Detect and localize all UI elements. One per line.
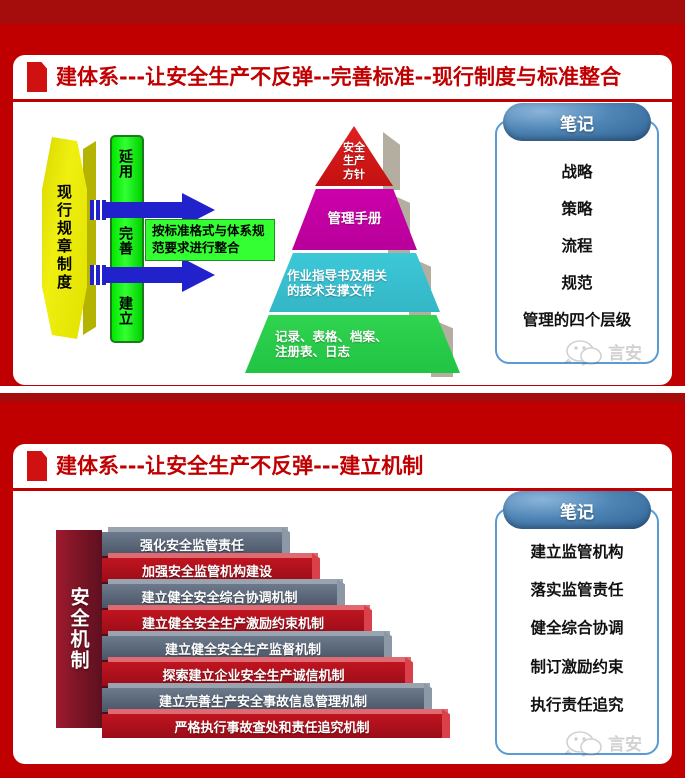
notes-item: 战略 (561, 160, 592, 182)
integration-callout: 按标准格式与体系规范要求进行整合 (145, 219, 275, 261)
notes-item: 策略 (561, 197, 592, 219)
pyramid-level-2-line-1: 管理手册 (328, 211, 382, 227)
notes-item: 执行责任追究 (530, 693, 623, 715)
arrow-shaft (106, 267, 184, 283)
pyramid-level-4: 记录、表格、档案、 注册表、日志 (245, 315, 460, 373)
pillar-label: 安全机制 (56, 530, 102, 728)
slide2-title: 建体系---让安全生产不反弹---建立机制 (56, 456, 423, 477)
notes-header-1: 笔记 (503, 103, 651, 141)
pyramid-level-4-text: 记录、表格、档案、 注册表、日志 (245, 315, 460, 373)
mid-red-band (0, 393, 685, 402)
poster-background: 建体系---让安全生产不反弹--完善标准--现行制度与标准整合 现行规章制度 延… (0, 0, 685, 778)
hexagon-label: 现行规章制度 (42, 137, 87, 339)
pyramid-level-3-text: 作业指导书及相关 的技术支撑文件 (269, 253, 440, 312)
notes-item: 规范 (561, 271, 592, 293)
staircase-pillar: 安全机制 (56, 530, 102, 728)
stair-step: 严格执行事故查处和责任追究机制 (102, 714, 442, 738)
step-side (337, 579, 345, 608)
stage-label-1: 延用 (110, 141, 140, 187)
pyramid-level-3: 作业指导书及相关 的技术支撑文件 (269, 253, 440, 312)
pyramid-level-2: 管理手册 (292, 189, 417, 250)
notes-list-1: 战略 策略 流程 规范 管理的四个层级 (497, 152, 657, 338)
arrow-head (182, 258, 215, 292)
notes-panel-2: 笔记 建立监管机构 落实监管责任 健全综合协调 制订激励约束 执行责任追究 (495, 508, 659, 755)
notes-list-2: 建立监管机构 落实监管责任 健全综合协调 制订激励约束 执行责任追究 (497, 532, 657, 723)
notes-item: 流程 (561, 234, 592, 256)
step-side (442, 709, 450, 738)
step-side (384, 631, 392, 660)
notes-item: 建立监管机构 (530, 540, 623, 562)
notes-item: 制订激励约束 (530, 655, 623, 677)
step-side (282, 527, 290, 556)
pyramid-level-1: 安全 生产 方针 (315, 126, 393, 186)
document-pyramid: 安全 生产 方针 管理手册 作业指导书及相关 的技术支撑文件 记录、表格、档 (288, 126, 478, 341)
step-side (364, 605, 372, 634)
step-side (312, 553, 320, 582)
slide1-title-underline (13, 99, 672, 102)
pyramid-level-3-line-2: 的技术支撑文件 (287, 283, 375, 298)
pyramid-level-1-line-1: 安全 (343, 141, 365, 154)
arrow-tail-bars (90, 200, 106, 220)
pyramid-level-1-text: 安全 生产 方针 (315, 126, 393, 186)
step-side (424, 683, 432, 712)
notes-item: 管理的四个层级 (523, 308, 632, 330)
arrow-tail-bars (90, 265, 106, 285)
safety-mechanism-staircase: 安全机制 强化安全监管责任 加强安全监管机构建设 建立健全安全综合协调机制 建立… (42, 530, 462, 735)
document-icon (27, 451, 47, 481)
document-icon (27, 62, 47, 92)
step-side (405, 657, 413, 686)
notes-panel-1: 笔记 战略 策略 流程 规范 管理的四个层级 (495, 120, 659, 364)
slide1-title-row: 建体系---让安全生产不反弹--完善标准--现行制度与标准整合 (13, 55, 672, 99)
blue-arrow-2 (90, 258, 215, 292)
notes-item: 落实监管责任 (530, 578, 623, 600)
step-label: 严格执行事故查处和责任追究机制 (102, 714, 442, 738)
pyramid-level-4-line-2: 注册表、日志 (275, 344, 350, 359)
top-red-band (0, 0, 685, 24)
slide-separator-gap (0, 386, 685, 393)
pyramid-level-4-line-1: 记录、表格、档案、 (275, 329, 388, 344)
slide2-title-row: 建体系---让安全生产不反弹---建立机制 (13, 444, 672, 488)
pyramid-level-1-line-2: 生产 (343, 154, 365, 167)
arrow-shaft (106, 202, 184, 218)
notes-item: 健全综合协调 (530, 616, 623, 638)
current-rules-hexagon: 现行规章制度 (42, 137, 96, 339)
pyramid-level-3-line-1: 作业指导书及相关 (287, 268, 387, 283)
stage-label-3: 建立 (110, 288, 140, 334)
notes-header-2: 笔记 (503, 491, 651, 529)
pyramid-level-2-text: 管理手册 (292, 189, 417, 250)
pyramid-level-1-line-3: 方针 (343, 168, 365, 181)
slide1-title: 建体系---让安全生产不反弹--完善标准--现行制度与标准整合 (56, 67, 621, 88)
